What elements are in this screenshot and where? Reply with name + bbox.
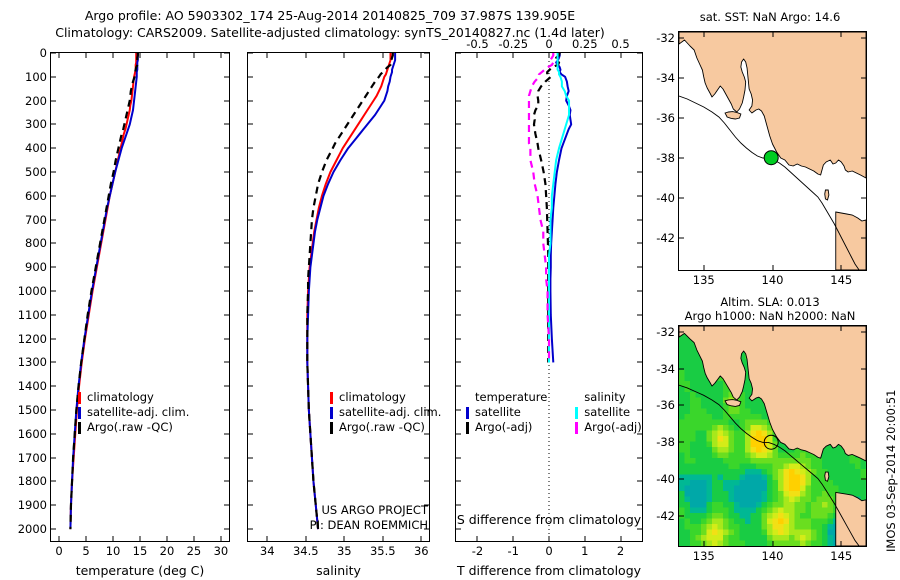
imos-timestamp-text: IMOS 03-Sep-2014 20:00:51 <box>884 390 898 553</box>
y-tick-label: 600 <box>25 189 51 203</box>
y-tick-label: 1400 <box>18 379 51 393</box>
x-tick-label-top: 0 <box>545 37 552 53</box>
difference-legend: temperaturesatelliteArgo(-adj)salinitysa… <box>466 390 642 435</box>
x-tick-label: 20 <box>160 541 175 558</box>
project-credit: US ARGO PROJECT PI: DEAN ROEMMICH <box>260 503 428 533</box>
legend-column: temperaturesatelliteArgo(-adj) <box>466 390 547 435</box>
legend-item: climatology <box>330 390 441 405</box>
map-x-tick-label: 135 <box>693 270 715 287</box>
legend-label: satellite <box>584 405 630 420</box>
x-tick-label: 0 <box>55 541 62 558</box>
legend-swatch <box>575 422 578 434</box>
map-x-tick-label: 135 <box>693 546 715 563</box>
difference-xlabel-bottom-text: T difference from climatology <box>457 563 641 578</box>
salinity-legend: climatologysatellite-adj. clim.Argo(.raw… <box>330 390 441 435</box>
map-y-tick-label: -34 <box>656 71 679 85</box>
map-y-tick-label: -34 <box>656 362 679 376</box>
y-tick-label: 900 <box>25 260 51 274</box>
legend-column: climatologysatellite-adj. clim.Argo(.raw… <box>78 390 189 435</box>
legend-item: satellite <box>466 405 547 420</box>
temperature-legend: climatologysatellite-adj. clim.Argo(.raw… <box>78 390 189 435</box>
x-tick-label: 35 <box>337 541 352 558</box>
legend-item: Argo(.raw -QC) <box>330 420 441 435</box>
x-tick-label: 30 <box>214 541 229 558</box>
map-sst-title-text: sat. SST: NaN Argo: 14.6 <box>700 10 841 24</box>
map-y-tick-label: -32 <box>656 325 679 339</box>
legend-label: Argo(.raw -QC) <box>339 420 425 435</box>
map-y-tick-label: -38 <box>656 151 679 165</box>
x-tick-label: -2 <box>472 541 483 558</box>
y-tick-label: 1300 <box>18 355 51 369</box>
figure-title-line2: Climatology: CARS2009. Satellite-adjuste… <box>0 25 660 41</box>
legend-header: temperature <box>466 390 547 405</box>
x-tick-label: -1 <box>507 541 518 558</box>
x-tick-label: 1 <box>581 541 588 558</box>
temperature-xlabel: temperature (deg C) <box>50 563 230 578</box>
y-tick-label: 1600 <box>18 427 51 441</box>
temperature-axis-ticks: 0100200300400500600700800900100011001200… <box>51 53 229 541</box>
map-y-tick-label: -42 <box>656 231 679 245</box>
map-y-tick-label: -36 <box>656 111 679 125</box>
legend-swatch <box>466 407 469 419</box>
legend-swatch <box>575 407 578 419</box>
x-tick-label-top: 0.5 <box>611 37 629 53</box>
x-tick-label: 0 <box>545 541 552 558</box>
y-tick-label: 400 <box>25 141 51 155</box>
map-x-tick-label: 140 <box>762 546 784 563</box>
x-tick-label: 2 <box>617 541 624 558</box>
x-tick-label-top: 0.25 <box>572 37 598 53</box>
legend-item: Argo(-adj) <box>466 420 547 435</box>
x-tick-label-top: -0.5 <box>466 37 488 53</box>
map-sla-title: Altim. SLA: 0.013 Argo h1000: NaN h2000:… <box>660 295 880 323</box>
figure-title-line1: Argo profile: AO 5903302_174 25-Aug-2014… <box>0 8 660 24</box>
legend-swatch <box>330 407 333 419</box>
figure-title-line1-text: Argo profile: AO 5903302_174 25-Aug-2014… <box>85 8 575 23</box>
x-tick-label: 10 <box>106 541 121 558</box>
legend-label: Argo(-adj) <box>584 420 641 435</box>
legend-label: climatology <box>87 390 154 405</box>
legend-swatch <box>330 422 333 434</box>
legend-label: satellite-adj. clim. <box>339 405 441 420</box>
legend-column: climatologysatellite-adj. clim.Argo(.raw… <box>330 390 441 435</box>
legend-item: Argo(.raw -QC) <box>78 420 189 435</box>
difference-xlabel-bottom: T difference from climatology <box>455 563 643 578</box>
legend-swatch <box>78 392 81 404</box>
y-tick-label: 100 <box>25 70 51 84</box>
y-tick-label: 1000 <box>18 284 51 298</box>
temperature-xlabel-text: temperature (deg C) <box>76 563 205 578</box>
map-sst-ticks: -32-34-36-38-40-42135140145 <box>679 32 866 270</box>
difference-xlabel-top-text: S difference from climatology <box>457 512 641 527</box>
legend-swatch <box>78 422 81 434</box>
map-y-tick-label: -40 <box>656 472 679 486</box>
y-tick-label: 1100 <box>18 308 51 322</box>
project-credit-line1: US ARGO PROJECT <box>260 503 428 518</box>
x-tick-label: 34 <box>260 541 275 558</box>
legend-item: climatology <box>78 390 189 405</box>
y-tick-label: 800 <box>25 236 51 250</box>
x-tick-label-top: -0.25 <box>498 37 528 53</box>
x-tick-label: 36 <box>414 541 429 558</box>
legend-swatch <box>330 392 333 404</box>
map-x-tick-label: 145 <box>830 546 852 563</box>
legend-item: satellite <box>575 405 641 420</box>
y-tick-label: 2000 <box>18 522 51 536</box>
legend-item: Argo(-adj) <box>575 420 641 435</box>
legend-item: satellite-adj. clim. <box>78 405 189 420</box>
x-tick-label: 35.5 <box>370 541 396 558</box>
imos-timestamp: IMOS 03-Sep-2014 20:00:51 <box>884 390 898 553</box>
map-y-tick-label: -32 <box>656 31 679 45</box>
legend-label: climatology <box>339 390 406 405</box>
map-x-tick-label: 140 <box>762 270 784 287</box>
map-sst-title: sat. SST: NaN Argo: 14.6 <box>660 10 880 24</box>
y-tick-label: 200 <box>25 94 51 108</box>
legend-label: Argo(-adj) <box>475 420 532 435</box>
y-tick-label: 1800 <box>18 474 51 488</box>
map-sla-ticks: -32-34-36-38-40-42135140145 <box>679 326 866 546</box>
map-sla-title-line1: Altim. SLA: 0.013 <box>660 295 880 309</box>
legend-label: satellite-adj. clim. <box>87 405 189 420</box>
salinity-xlabel-text: salinity <box>316 563 361 578</box>
y-tick-label: 1900 <box>18 498 51 512</box>
x-tick-label: 15 <box>133 541 148 558</box>
y-tick-label: 700 <box>25 213 51 227</box>
y-tick-label: 1500 <box>18 403 51 417</box>
legend-swatch <box>466 422 469 434</box>
map-y-tick-label: -36 <box>656 398 679 412</box>
legend-label: satellite <box>475 405 521 420</box>
x-tick-label: 5 <box>82 541 89 558</box>
y-tick-label: 500 <box>25 165 51 179</box>
x-tick-label: 34.5 <box>293 541 319 558</box>
difference-xlabel-top: S difference from climatology <box>452 512 646 527</box>
difference-axis-ticks: -2-1012-0.5-0.2500.250.5 <box>456 53 642 541</box>
y-tick-label: 1200 <box>18 332 51 346</box>
legend-swatch <box>78 407 81 419</box>
legend-item: satellite-adj. clim. <box>330 405 441 420</box>
salinity-axis-ticks: 3434.53535.536 <box>248 53 429 541</box>
legend-column: salinitysatelliteArgo(-adj) <box>575 390 641 435</box>
map-sla-title-line2: Argo h1000: NaN h2000: NaN <box>660 309 880 323</box>
legend-label: Argo(.raw -QC) <box>87 420 173 435</box>
legend-header: salinity <box>575 390 641 405</box>
map-y-tick-label: -38 <box>656 435 679 449</box>
y-tick-label: 300 <box>25 117 51 131</box>
project-credit-line2: PI: DEAN ROEMMICH <box>260 518 428 533</box>
salinity-xlabel: salinity <box>247 563 430 578</box>
x-tick-label: 25 <box>187 541 202 558</box>
map-x-tick-label: 145 <box>830 270 852 287</box>
y-tick-label: 1700 <box>18 451 51 465</box>
map-y-tick-label: -40 <box>656 191 679 205</box>
y-tick-label: 0 <box>40 46 51 60</box>
map-y-tick-label: -42 <box>656 509 679 523</box>
